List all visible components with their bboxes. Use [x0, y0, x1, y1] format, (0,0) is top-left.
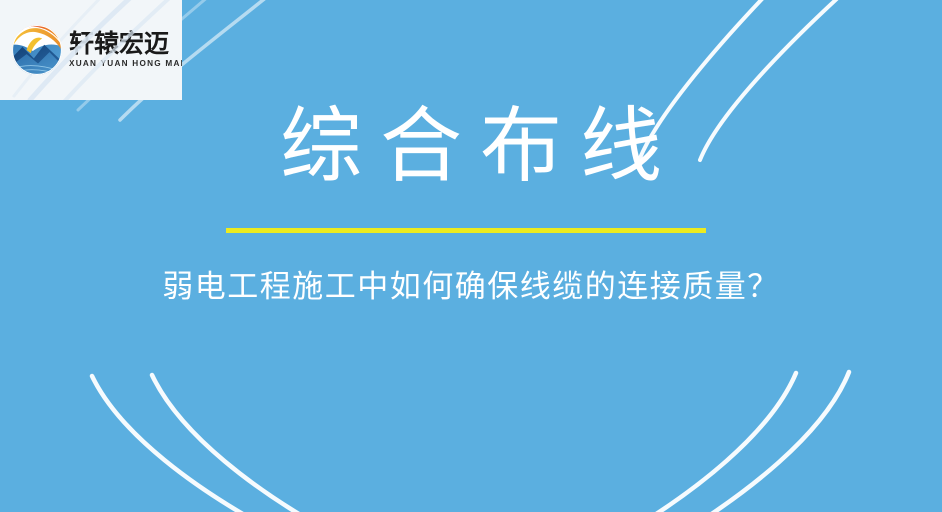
page-title: 综合布线 [0, 104, 942, 190]
headline-block: 综合布线 弱电工程施工中如何确保线缆的连接质量？ [0, 0, 942, 512]
page-subtitle: 弱电工程施工中如何确保线缆的连接质量？ [0, 269, 942, 306]
slide-canvas: 轩辕宏迈 XUAN YUAN HONG MAI 综合布线 弱电工程施工中如何确保… [0, 0, 942, 512]
title-divider [226, 228, 706, 233]
